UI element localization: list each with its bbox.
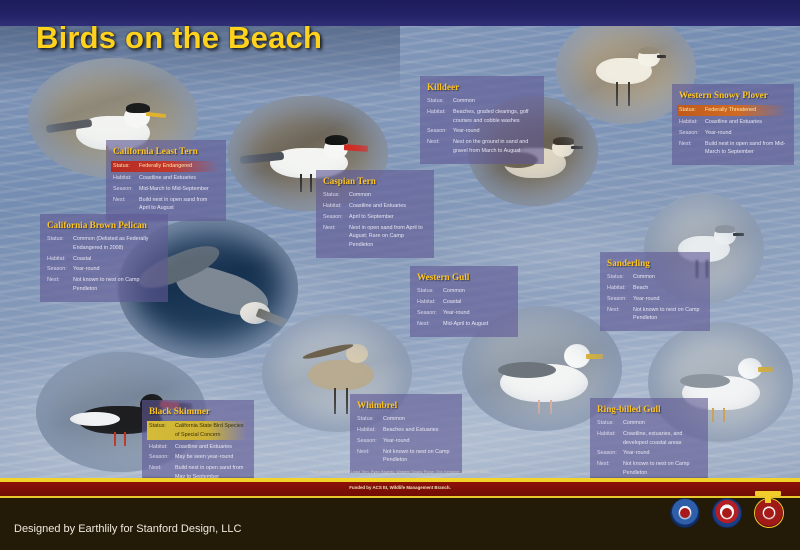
nest-label: Nest: [323, 224, 349, 249]
habitat-row: Habitat: Beach [607, 284, 703, 292]
nest-row: Nest: Not known to nest on Camp Pendleto… [47, 276, 161, 293]
habitat-value: Beaches, graded clearings, golf courses … [453, 108, 537, 125]
status-value: California State Bird Species of Special… [175, 422, 245, 439]
nest-value: Not known to nest on Camp Pendleton [633, 306, 703, 323]
species-name: Western Gull [417, 270, 511, 284]
season-label: Season: [607, 295, 633, 303]
nest-value: Build nest in open sand from Mid-March t… [705, 140, 787, 157]
season-label: Season: [417, 309, 443, 317]
season-value: Mid-March to Mid-September [139, 185, 219, 193]
season-value: Year-round [705, 129, 787, 137]
nest-value: Not known to nest on Camp Pendleton [623, 460, 701, 477]
habitat-label: Habitat: [149, 443, 175, 451]
habitat-label: Habitat: [679, 118, 705, 126]
nest-label: Nest: [357, 448, 383, 465]
species-name: Caspian Tern [323, 174, 427, 188]
status-value: Common [349, 191, 427, 199]
navy-seal-emblem [670, 498, 700, 528]
funding-statement: Funded by ACS EI, Wildlife Management Br… [0, 485, 800, 490]
habitat-label: Habitat: [323, 202, 349, 210]
status-label: Status: [47, 235, 73, 252]
habitat-label: Habitat: [113, 174, 139, 182]
habitat-label: Habitat: [427, 108, 453, 125]
status-label: Status: [323, 191, 349, 199]
page-title: Birds on the Beach [36, 20, 322, 56]
habitat-value: Coastline and Estuaries [139, 174, 219, 182]
habitat-value: Coastline and Estuaries [349, 202, 427, 210]
habitat-label: Habitat: [597, 430, 623, 447]
status-value: Common [453, 97, 537, 105]
status-label: Status: [597, 419, 623, 427]
status-row: Status: Common (Delisted as Federally En… [47, 235, 161, 252]
nest-value: Not known to nest on Camp Pendleton [383, 448, 455, 465]
species-name: Black Skimmer [149, 404, 247, 418]
season-row: Season: Mid-March to Mid-September [113, 185, 219, 193]
season-value: Year-round [383, 437, 455, 445]
photo-credit: Photo credits: California Least Tern, Ry… [0, 470, 800, 474]
habitat-row: Habitat: Coastline and Estuaries [149, 443, 247, 451]
marine-corps-emblem [754, 498, 784, 528]
species-name: Ring-billed Gull [597, 402, 701, 416]
season-label: Season: [47, 265, 73, 273]
status-row: Status: Common [597, 419, 701, 427]
nest-row: Nest: Nest on the ground in sand and gra… [427, 138, 537, 155]
status-value: Common [623, 419, 701, 427]
season-value: Year-round [453, 127, 537, 135]
nest-value: Nest in open sand from April to August; … [349, 224, 427, 249]
status-row: Status: Common [427, 97, 537, 105]
status-row: Status: Common [357, 415, 455, 423]
status-row: Status: Common [323, 191, 427, 199]
status-value: Common [633, 273, 703, 281]
season-row: Season: Year-round [597, 449, 701, 457]
status-value: Common [443, 287, 511, 295]
habitat-label: Habitat: [47, 255, 73, 263]
status-label: Status: [357, 415, 383, 423]
info-card-sanderling: Sanderling Status: Common Habitat: Beach… [600, 252, 710, 331]
agency-emblems [670, 498, 784, 528]
season-row: Season: Year-round [357, 437, 455, 445]
habitat-value: Beaches and Estuaries [383, 426, 455, 434]
season-row: Season: Year-round [427, 127, 537, 135]
season-label: Season: [427, 127, 453, 135]
species-name: California Least Tern [113, 144, 219, 158]
info-card-whimbrel: Whimbrel Status: Common Habitat: Beaches… [350, 394, 462, 473]
nest-label: Nest: [47, 276, 73, 293]
season-value: Year-round [633, 295, 703, 303]
habitat-label: Habitat: [417, 298, 443, 306]
info-card-western-gull: Western Gull Status: Common Habitat: Coa… [410, 266, 518, 337]
season-label: Season: [597, 449, 623, 457]
species-name: Western Snowy Plover [679, 88, 787, 102]
designer-credit: Designed by Earthlily for Stanford Desig… [14, 523, 241, 535]
nest-value: Build nest in open sand from April to Au… [139, 196, 219, 213]
season-row: Season: Year-round [47, 265, 161, 273]
nest-row: Nest: Build nest in open sand from Mid-M… [679, 140, 787, 157]
status-badge: Status: Federally Endangered [111, 161, 219, 171]
habitat-value: Coastline and Estuaries [705, 118, 787, 126]
nest-label: Nest: [113, 196, 139, 213]
status-value: Common [383, 415, 455, 423]
habitat-row: Habitat: Coastline, estuaries, and devel… [597, 430, 701, 447]
species-name: Sanderling [607, 256, 703, 270]
season-value: May be seen year-round [175, 453, 247, 461]
species-name: Whimbrel [357, 398, 455, 412]
nest-label: Nest: [679, 140, 705, 157]
info-card-black-skimmer: Black Skimmer Status: California State B… [142, 400, 254, 490]
nest-label: Nest: [597, 460, 623, 477]
habitat-row: Habitat: Beaches and Estuaries [357, 426, 455, 434]
status-label: Status: [679, 106, 705, 114]
habitat-row: Habitat: Coastline and Estuaries [113, 174, 219, 182]
season-label: Season: [357, 437, 383, 445]
nest-row: Nest: Build nest in open sand from April… [113, 196, 219, 213]
status-badge: Status: Federally Threatened [677, 105, 787, 115]
info-card-caspian-tern: Caspian Tern Status: Common Habitat: Coa… [316, 170, 434, 258]
nest-row: Nest: Nest in open sand from April to Au… [323, 224, 427, 249]
info-card-california-least-tern: California Least Tern Status: Federally … [106, 140, 226, 221]
department-of-defense-emblem [712, 498, 742, 528]
habitat-value: Coastline, estuaries, and developed coas… [623, 430, 701, 447]
nest-row: Nest: Not known to nest on Camp Pendleto… [607, 306, 703, 323]
status-value: Common (Delisted as Federally Endangered… [73, 235, 161, 252]
season-label: Season: [323, 213, 349, 221]
nest-label: Nest: [417, 320, 443, 328]
status-row: Status: Common [607, 273, 703, 281]
status-badge: Status: California State Bird Species of… [147, 421, 247, 440]
nest-value: Mid-April to August [443, 320, 511, 328]
habitat-row: Habitat: Beaches, graded clearings, golf… [427, 108, 537, 125]
status-label: Status: [427, 97, 453, 105]
nest-label: Nest: [607, 306, 633, 323]
season-value: April to September [349, 213, 427, 221]
habitat-row: Habitat: Coastal [47, 255, 161, 263]
status-label: Status: [113, 162, 139, 170]
nest-value: Nest on the ground in sand and gravel fr… [453, 138, 537, 155]
nest-value: Not known to nest on Camp Pendleton [73, 276, 161, 293]
nest-label: Nest: [427, 138, 453, 155]
season-label: Season: [679, 129, 705, 137]
habitat-value: Coastal [73, 255, 161, 263]
species-name: California Brown Pelican [47, 218, 161, 232]
habitat-label: Habitat: [607, 284, 633, 292]
habitat-row: Habitat: Coastal [417, 298, 511, 306]
season-row: Season: May be seen year-round [149, 453, 247, 461]
habitat-row: Habitat: Coastline and Estuaries [679, 118, 787, 126]
season-value: Year-round [443, 309, 511, 317]
nest-row: Nest: Not known to nest on Camp Pendleto… [357, 448, 455, 465]
status-label: Status: [607, 273, 633, 281]
season-label: Season: [113, 185, 139, 193]
habitat-label: Habitat: [357, 426, 383, 434]
season-row: Season: April to September [323, 213, 427, 221]
habitat-value: Coastal [443, 298, 511, 306]
habitat-row: Habitat: Coastline and Estuaries [323, 202, 427, 210]
season-value: Year-round [73, 265, 161, 273]
habitat-value: Beach [633, 284, 703, 292]
season-row: Season: Year-round [417, 309, 511, 317]
anchor-icon [753, 491, 783, 503]
season-value: Year-round [623, 449, 701, 457]
species-name: Killdeer [427, 80, 537, 94]
status-value: Federally Endangered [139, 162, 217, 170]
nest-row: Nest: Mid-April to August [417, 320, 511, 328]
status-value: Federally Threatened [705, 106, 785, 114]
season-row: Season: Year-round [679, 129, 787, 137]
status-row: Status: Common [417, 287, 511, 295]
season-label: Season: [149, 453, 175, 461]
season-row: Season: Year-round [607, 295, 703, 303]
status-label: Status: [417, 287, 443, 295]
info-card-killdeer: Killdeer Status: Common Habitat: Beaches… [420, 76, 544, 164]
info-card-california-brown-pelican: California Brown Pelican Status: Common … [40, 214, 168, 302]
nest-row: Nest: Not known to nest on Camp Pendleto… [597, 460, 701, 477]
bird-poster: Birds on the Beach California Least Tern… [0, 0, 800, 550]
status-label: Status: [149, 422, 175, 439]
habitat-value: Coastline and Estuaries [175, 443, 247, 451]
info-card-western-snowy-plover: Western Snowy Plover Status: Federally T… [672, 84, 794, 165]
